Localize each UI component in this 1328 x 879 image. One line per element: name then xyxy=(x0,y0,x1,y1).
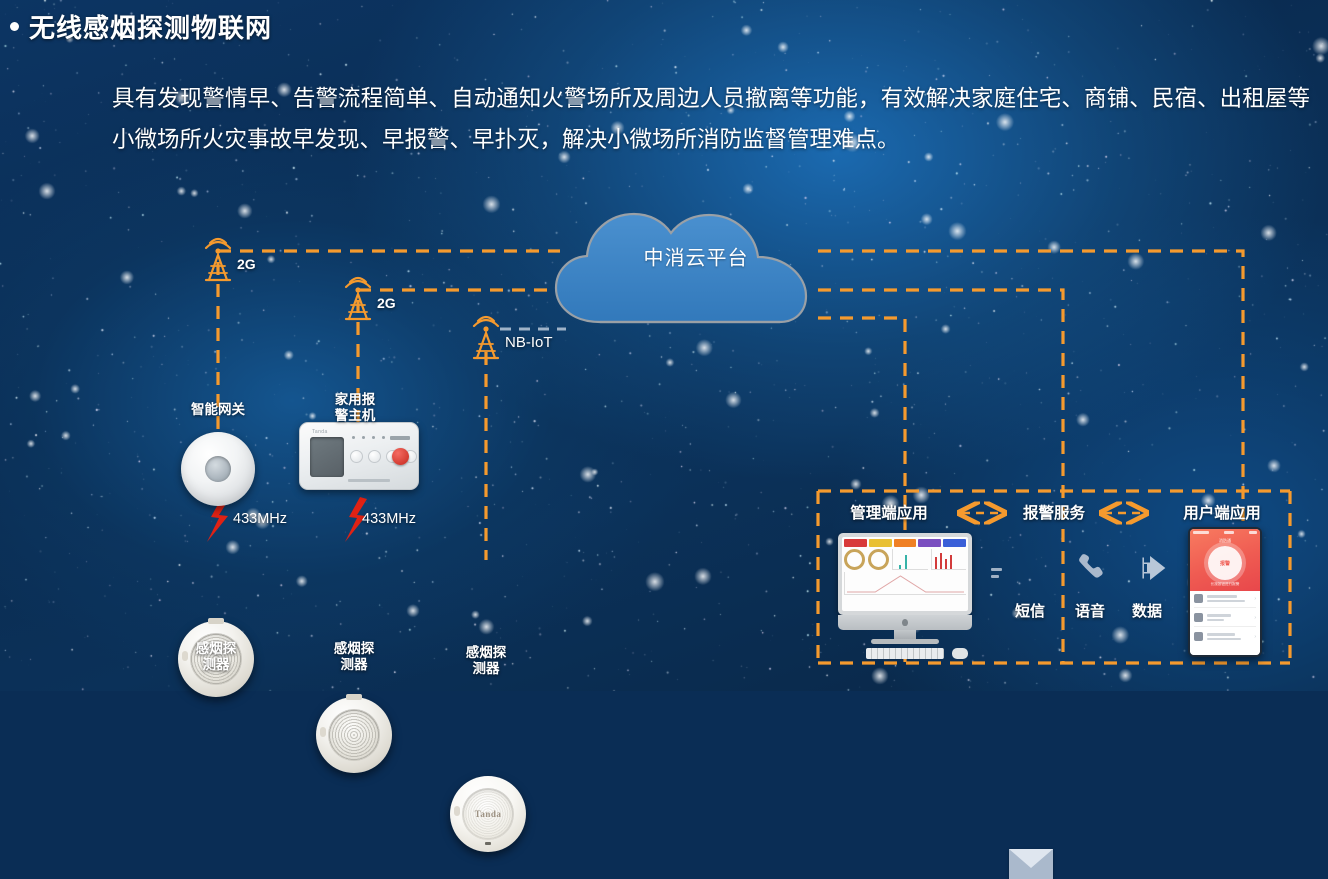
smoke-detector-1-label: 感烟探 测器 xyxy=(196,641,237,673)
detector-tab-icon xyxy=(346,694,362,700)
alarm-host-brand: Tanda xyxy=(312,429,328,435)
phone-handset-icon xyxy=(1076,550,1110,591)
monitor-screen xyxy=(838,533,972,615)
client-app-screen: 消防通 报警 长按按钮进行报警 › › › xyxy=(1190,529,1260,655)
cell-tower-icon xyxy=(206,239,230,280)
smart-gateway-icon xyxy=(181,432,255,506)
dashboard-charts-row xyxy=(842,549,968,570)
data-exchange-arrows-icon xyxy=(1128,553,1166,588)
monitor-stand-base xyxy=(871,639,939,644)
smoke-detector-3-label: 感烟探 测器 xyxy=(466,645,507,677)
client-app-label: 用户端应用 xyxy=(1183,505,1261,523)
tower-1-label: 2G xyxy=(237,256,256,273)
bar-chart xyxy=(931,549,967,570)
history-icon xyxy=(1194,594,1203,603)
chevron-right-icon: › xyxy=(1254,634,1256,640)
detector-indicator-icon xyxy=(485,842,491,845)
envelope-icon xyxy=(1009,849,1053,879)
alarm-host-emergency-button[interactable] xyxy=(392,448,409,465)
admin-dashboard xyxy=(842,537,968,611)
status-bar xyxy=(1193,531,1257,535)
tower-2-label: 2G xyxy=(377,295,396,312)
data-label: 数据 xyxy=(1132,603,1162,621)
monitor-stand-neck xyxy=(894,630,916,639)
client-app-title: 消防通 xyxy=(1190,538,1260,544)
alarm-button[interactable]: 报警 xyxy=(1208,546,1242,580)
gateway-sensor-lens-icon xyxy=(205,456,231,482)
detector-mesh-icon: Tanda xyxy=(462,788,514,840)
donut-chart xyxy=(868,549,889,570)
keyboard-icon xyxy=(866,648,944,659)
detector-tab-icon xyxy=(208,618,224,624)
cell-tower-icon xyxy=(346,278,370,319)
dashboard-stat-cards xyxy=(842,537,968,549)
client-app-header: 消防通 报警 长按按钮进行报警 xyxy=(1190,529,1260,591)
signal-dashes-icon xyxy=(991,568,1002,578)
client-app-list: › › › xyxy=(1190,591,1260,655)
apple-logo-icon xyxy=(902,619,908,626)
sms-label: 短信 xyxy=(1015,603,1045,621)
alarm-button-label: 报警 xyxy=(1220,560,1230,567)
line-chart xyxy=(844,572,966,595)
alarm-host-label: 家用报 警主机 xyxy=(335,392,376,424)
desktop-monitor-icon xyxy=(838,533,972,646)
smoke-detector-2-label: 感烟探 测器 xyxy=(334,641,375,673)
list-item[interactable]: › xyxy=(1194,613,1256,627)
monitor-chin xyxy=(838,615,972,630)
smoke-detector-icon xyxy=(316,697,392,773)
tower-3-label: NB-IoT xyxy=(505,334,553,352)
detector-led-icon xyxy=(182,651,188,661)
detector-mesh-icon xyxy=(328,709,380,761)
detector-led-icon xyxy=(454,806,460,816)
detector-brand: Tanda xyxy=(475,809,502,819)
rf-link-1-label: 433MHz xyxy=(233,511,287,528)
list-item[interactable]: › xyxy=(1194,632,1256,645)
contact-icon xyxy=(1194,632,1203,641)
cell-tower-icon xyxy=(474,317,498,358)
chevron-right-icon: › xyxy=(1254,615,1256,621)
mouse-icon xyxy=(952,648,968,659)
alarm-host-lcd-icon xyxy=(310,437,344,477)
chevron-right-icon: › xyxy=(1254,596,1256,602)
smoke-detector-icon: Tanda xyxy=(450,776,526,852)
voice-label: 语音 xyxy=(1075,603,1105,621)
device-list-icon xyxy=(1194,613,1203,622)
smartphone-icon: 消防通 报警 长按按钮进行报警 › › › xyxy=(1188,527,1262,657)
smart-gateway-label: 智能网关 xyxy=(191,402,245,418)
cloud-platform-label: 中消云平台 xyxy=(644,242,749,271)
alarm-host-icon: Tanda xyxy=(299,422,419,490)
bar-chart xyxy=(892,549,928,570)
rf-link-2-label: 433MHz xyxy=(362,511,416,528)
alarm-caption: 长按按钮进行报警 xyxy=(1190,582,1260,587)
donut-chart xyxy=(844,549,865,570)
alarm-host-label-strip xyxy=(348,479,390,482)
detector-led-icon xyxy=(320,727,326,737)
alarm-host-leds-icon xyxy=(352,436,395,439)
alarm-service-label: 报警服务 xyxy=(1023,505,1085,523)
admin-app-label: 管理端应用 xyxy=(850,505,928,523)
list-item[interactable]: › xyxy=(1194,594,1256,608)
